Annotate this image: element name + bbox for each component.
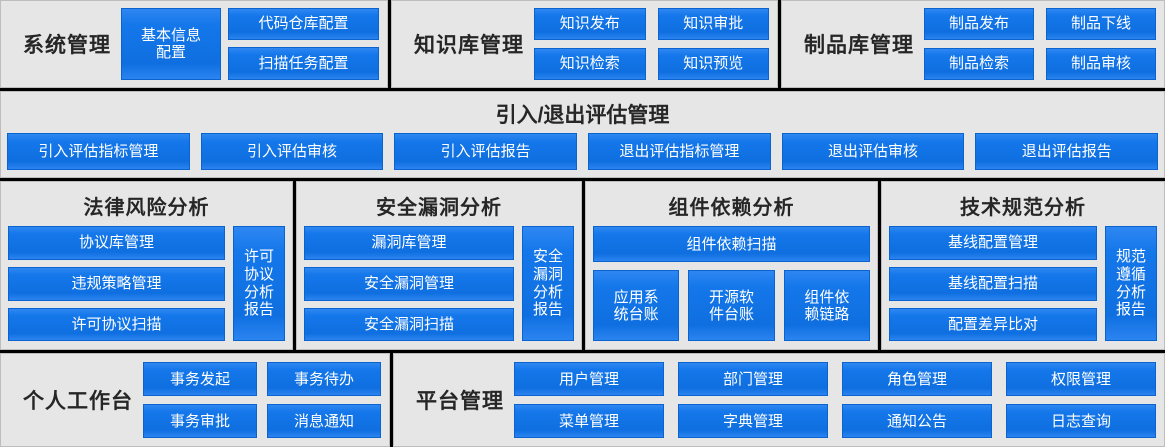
security-vuln-body: 漏洞库管理 安全漏洞管理 安全漏洞扫描 安全 漏洞 分析 报告 — [304, 226, 574, 341]
button-scan-task-config[interactable]: 扫描任务配置 — [228, 47, 379, 80]
panel-personal-workbench: 个人工作台 事务发起 事务审批 事务待办 消息通知 — [0, 353, 390, 447]
row-analysis: 法律风险分析 协议库管理 违规策略管理 许可协议扫描 许可 协议 分析 报告 安… — [0, 181, 1165, 350]
legal-risk-body: 协议库管理 违规策略管理 许可协议扫描 许可 协议 分析 报告 — [8, 226, 285, 341]
panel-product-repo-management: 制品库管理 制品发布 制品检索 制品下线 制品审核 — [781, 0, 1165, 88]
product-column-1: 制品发布 制品检索 — [924, 8, 1034, 80]
button-intro-eval-indicator-mgmt[interactable]: 引入评估指标管理 — [7, 133, 190, 171]
button-security-vuln-scan[interactable]: 安全漏洞扫描 — [304, 308, 514, 342]
panel-title-legal-risk: 法律风险分析 — [8, 187, 285, 226]
button-license-agreement-scan[interactable]: 许可协议扫描 — [8, 308, 225, 342]
panel-security-vuln-analysis: 安全漏洞分析 漏洞库管理 安全漏洞管理 安全漏洞扫描 安全 漏洞 分析 报告 — [296, 181, 582, 350]
panel-title-security-vuln: 安全漏洞分析 — [304, 187, 574, 226]
button-intro-eval-report[interactable]: 引入评估报告 — [394, 133, 577, 171]
panel-title-product-repo: 制品库管理 — [790, 29, 924, 59]
panel-platform-management: 平台管理 用户管理 菜单管理 部门管理 字典管理 角色管理 通知公告 权限管理 … — [393, 353, 1165, 447]
system-management-column: 代码仓库配置 扫描任务配置 — [228, 8, 379, 80]
button-agreement-library-mgmt[interactable]: 协议库管理 — [8, 226, 225, 260]
button-baseline-config-scan[interactable]: 基线配置扫描 — [889, 267, 1097, 301]
row-bottom: 个人工作台 事务发起 事务审批 事务待办 消息通知 平台管理 用户管理 菜单管理 — [0, 353, 1165, 447]
button-application-system-ledger[interactable]: 应用系 统台账 — [593, 270, 679, 341]
security-vuln-buttons: 漏洞库管理 安全漏洞管理 安全漏洞扫描 — [304, 226, 514, 341]
panel-knowledge-base-management: 知识库管理 知识发布 知识检索 知识审批 知识预览 — [391, 0, 778, 88]
panel-technical-spec-analysis: 技术规范分析 基线配置管理 基线配置扫描 配置差异比对 规范 遵循 分析 报告 — [881, 181, 1165, 350]
knowledge-column-1: 知识发布 知识检索 — [534, 8, 646, 80]
platform-buttons: 用户管理 菜单管理 部门管理 字典管理 角色管理 通知公告 权限管理 日志查询 — [514, 362, 1156, 438]
button-security-vuln-analysis-report[interactable]: 安全 漏洞 分析 报告 — [522, 226, 574, 341]
technical-spec-buttons: 基线配置管理 基线配置扫描 配置差异比对 — [889, 226, 1097, 341]
button-task-approval[interactable]: 事务审批 — [143, 404, 257, 438]
button-component-dependency-chain[interactable]: 组件依 赖链路 — [784, 270, 870, 341]
panel-title-system-management: 系统管理 — [9, 29, 121, 59]
panel-title-personal-workbench: 个人工作台 — [9, 385, 143, 415]
panel-title-technical-spec: 技术规范分析 — [889, 187, 1157, 226]
platform-column-2: 部门管理 字典管理 — [678, 362, 828, 438]
legal-risk-buttons: 协议库管理 违规策略管理 许可协议扫描 — [8, 226, 225, 341]
technical-spec-body: 基线配置管理 基线配置扫描 配置差异比对 规范 遵循 分析 报告 — [889, 226, 1157, 341]
button-violation-policy-mgmt[interactable]: 违规策略管理 — [8, 267, 225, 301]
product-column-2: 制品下线 制品审核 — [1046, 8, 1156, 80]
panel-intro-exit-evaluation: 引入/退出评估管理 引入评估指标管理 引入评估审核 引入评估报告 退出评估指标管… — [0, 91, 1165, 179]
button-task-todo[interactable]: 事务待办 — [267, 362, 381, 396]
panel-title-component-dependency: 组件依赖分析 — [593, 187, 870, 226]
button-vuln-library-mgmt[interactable]: 漏洞库管理 — [304, 226, 514, 260]
button-knowledge-preview[interactable]: 知识预览 — [658, 48, 770, 80]
system-management-buttons: 基本信息 配置 代码仓库配置 扫描任务配置 — [121, 8, 379, 80]
button-menu-management[interactable]: 菜单管理 — [514, 404, 664, 438]
button-product-offline[interactable]: 制品下线 — [1046, 8, 1156, 40]
button-intro-eval-audit[interactable]: 引入评估审核 — [201, 133, 384, 171]
button-exit-eval-audit[interactable]: 退出评估审核 — [782, 133, 965, 171]
knowledge-base-buttons: 知识发布 知识检索 知识审批 知识预览 — [534, 8, 769, 80]
row-evaluation: 引入/退出评估管理 引入评估指标管理 引入评估审核 引入评估报告 退出评估指标管… — [0, 91, 1165, 179]
dashboard-root: 系统管理 基本信息 配置 代码仓库配置 扫描任务配置 知识库管理 知识发布 知识… — [0, 0, 1165, 447]
evaluation-buttons: 引入评估指标管理 引入评估审核 引入评估报告 退出评估指标管理 退出评估审核 退… — [7, 133, 1158, 171]
panel-system-management: 系统管理 基本信息 配置 代码仓库配置 扫描任务配置 — [0, 0, 388, 88]
workbench-column-2: 事务待办 消息通知 — [267, 362, 381, 438]
platform-column-1: 用户管理 菜单管理 — [514, 362, 664, 438]
panel-legal-risk-analysis: 法律风险分析 协议库管理 违规策略管理 许可协议扫描 许可 协议 分析 报告 — [0, 181, 293, 350]
button-license-analysis-report[interactable]: 许可 协议 分析 报告 — [233, 226, 285, 341]
button-log-query[interactable]: 日志查询 — [1006, 404, 1156, 438]
platform-column-4: 权限管理 日志查询 — [1006, 362, 1156, 438]
platform-column-3: 角色管理 通知公告 — [842, 362, 992, 438]
panel-component-dependency-analysis: 组件依赖分析 组件依赖扫描 应用系 统台账 开源软 件台账 组件依 赖链路 — [585, 181, 878, 350]
button-product-publish[interactable]: 制品发布 — [924, 8, 1034, 40]
workbench-buttons: 事务发起 事务审批 事务待办 消息通知 — [143, 362, 381, 438]
button-department-management[interactable]: 部门管理 — [678, 362, 828, 396]
workbench-column-1: 事务发起 事务审批 — [143, 362, 257, 438]
button-baseline-config-mgmt[interactable]: 基线配置管理 — [889, 226, 1097, 260]
button-knowledge-publish[interactable]: 知识发布 — [534, 8, 646, 40]
button-product-audit[interactable]: 制品审核 — [1046, 48, 1156, 80]
button-basic-info-config[interactable]: 基本信息 配置 — [121, 8, 221, 80]
button-notice-announcement[interactable]: 通知公告 — [842, 404, 992, 438]
row-top: 系统管理 基本信息 配置 代码仓库配置 扫描任务配置 知识库管理 知识发布 知识… — [0, 0, 1165, 88]
button-knowledge-approval[interactable]: 知识审批 — [658, 8, 770, 40]
button-user-management[interactable]: 用户管理 — [514, 362, 664, 396]
button-message-notification[interactable]: 消息通知 — [267, 404, 381, 438]
button-component-dependency-scan[interactable]: 组件依赖扫描 — [593, 226, 870, 262]
button-spec-compliance-analysis-report[interactable]: 规范 遵循 分析 报告 — [1105, 226, 1157, 341]
panel-title-intro-exit-evaluation: 引入/退出评估管理 — [7, 96, 1158, 133]
button-exit-eval-indicator-mgmt[interactable]: 退出评估指标管理 — [588, 133, 771, 171]
knowledge-column-2: 知识审批 知识预览 — [658, 8, 770, 80]
button-role-management[interactable]: 角色管理 — [842, 362, 992, 396]
component-dependency-sub-buttons: 应用系 统台账 开源软 件台账 组件依 赖链路 — [593, 270, 870, 341]
product-repo-buttons: 制品发布 制品检索 制品下线 制品审核 — [924, 8, 1156, 80]
component-dependency-body: 组件依赖扫描 应用系 统台账 开源软 件台账 组件依 赖链路 — [593, 226, 870, 341]
button-security-vuln-mgmt[interactable]: 安全漏洞管理 — [304, 267, 514, 301]
button-product-search[interactable]: 制品检索 — [924, 48, 1034, 80]
panel-title-knowledge-base: 知识库管理 — [400, 29, 534, 59]
button-task-initiate[interactable]: 事务发起 — [143, 362, 257, 396]
button-dictionary-management[interactable]: 字典管理 — [678, 404, 828, 438]
panel-title-platform-management: 平台管理 — [402, 385, 514, 415]
button-code-repo-config[interactable]: 代码仓库配置 — [228, 8, 379, 41]
button-config-diff-compare[interactable]: 配置差异比对 — [889, 308, 1097, 342]
button-knowledge-search[interactable]: 知识检索 — [534, 48, 646, 80]
button-exit-eval-report[interactable]: 退出评估报告 — [975, 133, 1158, 171]
button-permission-management[interactable]: 权限管理 — [1006, 362, 1156, 396]
button-open-source-software-ledger[interactable]: 开源软 件台账 — [688, 270, 774, 341]
